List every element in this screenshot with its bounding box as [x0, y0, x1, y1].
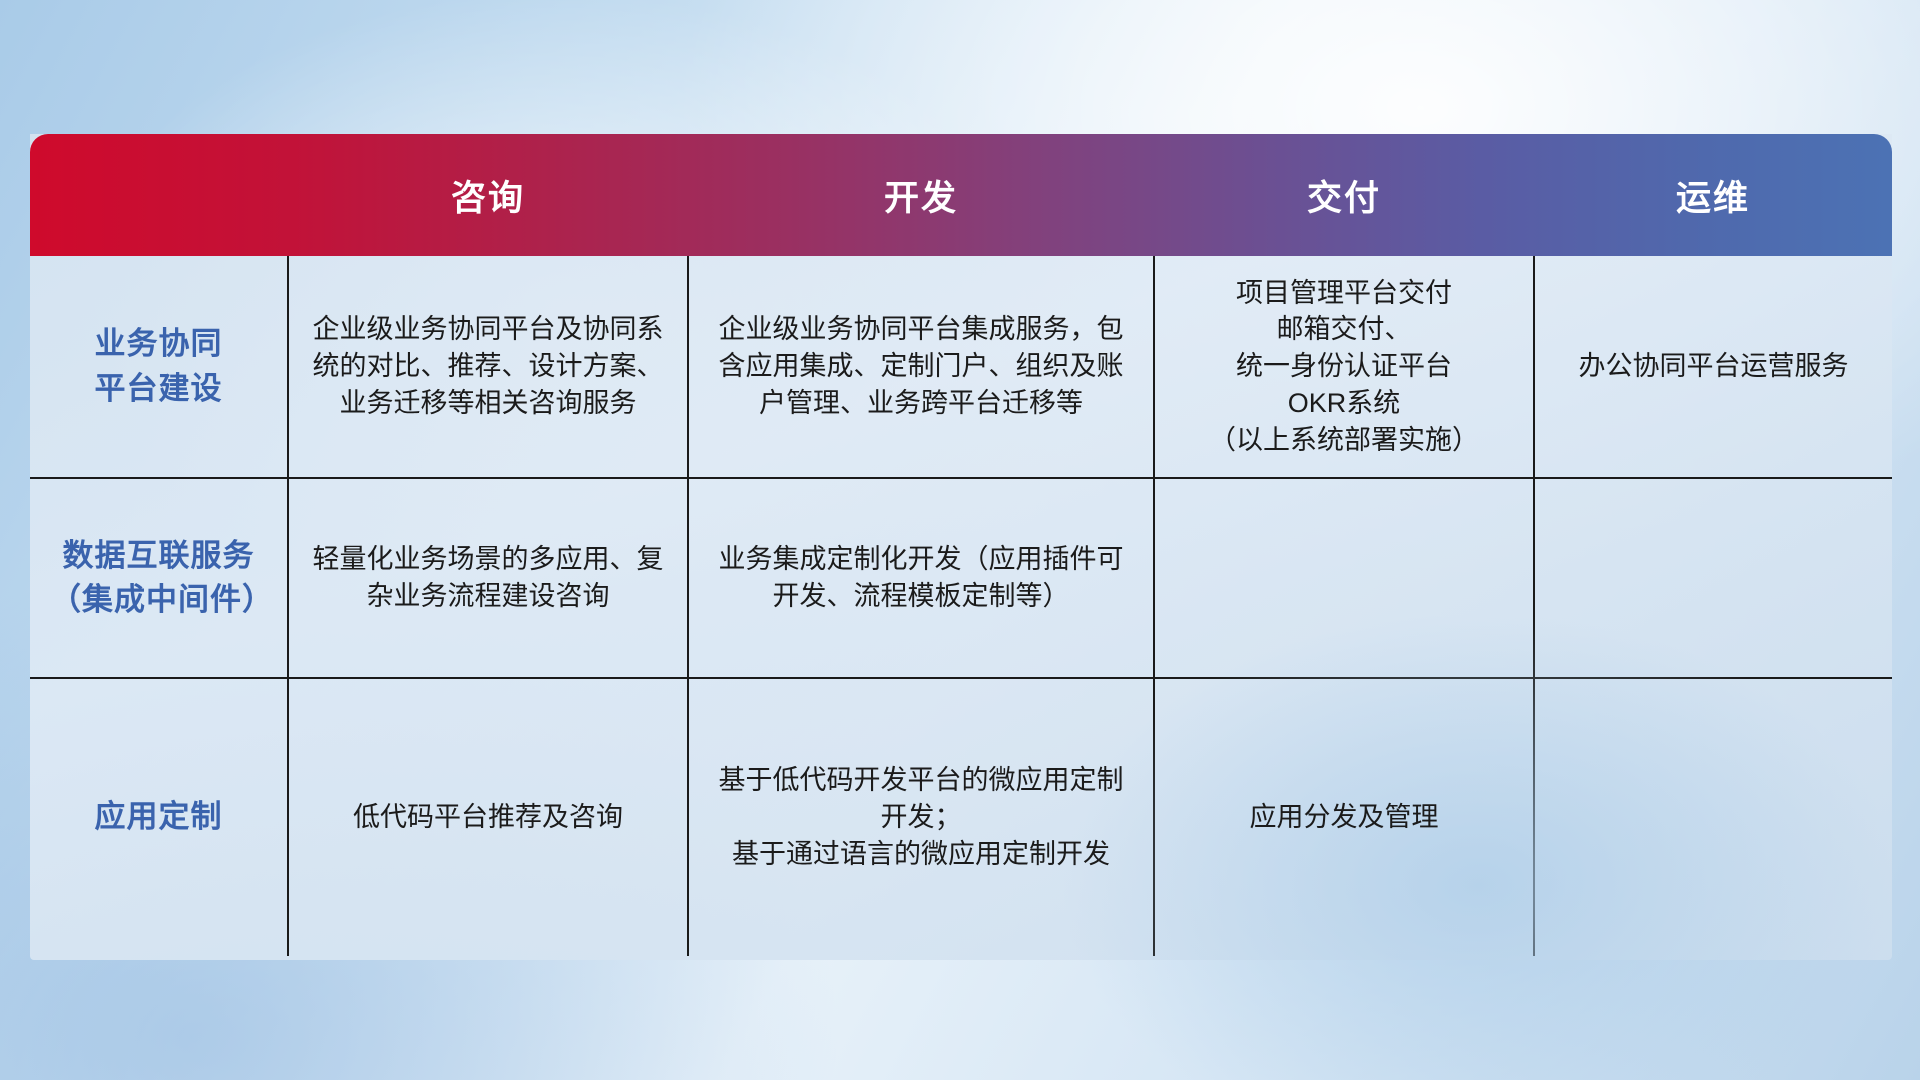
cell-row2-delivery [1154, 478, 1534, 678]
column-header-consulting: 咨询 [288, 134, 688, 256]
column-header-operations-label: 运维 [1676, 179, 1750, 218]
service-category-matrix-table: 服务类别 咨询 开发 交付 运维 [30, 134, 1892, 956]
cell-line: 应用分发及管理 [1175, 799, 1513, 836]
cell-line: 轻量化业务场景的多应用、复杂业务流程建设咨询 [309, 541, 667, 614]
cell-row3-delivery: 应用分发及管理 [1154, 678, 1534, 956]
column-header-consulting-label: 咨询 [451, 179, 525, 218]
cell-row2-consulting: 轻量化业务场景的多应用、复杂业务流程建设咨询 [288, 478, 688, 678]
cell-line: 企业级业务协同平台及协同系统的对比、推荐、设计方案、业务迁移等相关咨询服务 [309, 311, 667, 421]
header-row: 服务类别 咨询 开发 交付 运维 [30, 134, 1892, 256]
cell-line: （以上系统部署实施） [1175, 422, 1513, 459]
cell-row1-delivery: 项目管理平台交付邮箱交付、统一身份认证平台OKR系统（以上系统部署实施） [1154, 256, 1534, 478]
column-header-delivery-label: 交付 [1307, 179, 1381, 218]
cell-row2-operations [1534, 478, 1892, 678]
cell-line: 数据互联服务 [50, 534, 267, 578]
column-header-development-label: 开发 [884, 179, 958, 218]
row-label-business-collaboration: 业务协同平台建设 [30, 256, 288, 478]
cell-row3-development: 基于低代码开发平台的微应用定制开发；基于通过语言的微应用定制开发 [688, 678, 1154, 956]
table-row: 数据互联服务（集成中间件） 轻量化业务场景的多应用、复杂业务流程建设咨询 业务集… [30, 478, 1892, 678]
column-header-category: 服务类别 [30, 134, 288, 256]
cell-line: 低代码平台推荐及咨询 [309, 799, 667, 836]
cell-row1-development: 企业级业务协同平台集成服务，包含应用集成、定制门户、组织及账户管理、业务跨平台迁… [688, 256, 1154, 478]
cell-line: 基于通过语言的微应用定制开发 [709, 836, 1133, 873]
cell-row3-consulting: 低代码平台推荐及咨询 [288, 678, 688, 956]
column-header-operations: 运维 [1534, 134, 1892, 256]
row-label-app-customization: 应用定制 [30, 678, 288, 956]
cell-line: 应用定制 [50, 795, 267, 839]
cell-line: 业务集成定制化开发（应用插件可开发、流程模板定制等） [709, 541, 1133, 614]
cell-line: （集成中间件） [50, 578, 267, 622]
table-row: 应用定制 低代码平台推荐及咨询 基于低代码开发平台的微应用定制开发；基于通过语言… [30, 678, 1892, 956]
cell-row1-operations: 办公协同平台运营服务 [1534, 256, 1892, 478]
cell-row2-development: 业务集成定制化开发（应用插件可开发、流程模板定制等） [688, 478, 1154, 678]
row-label-data-interconnect: 数据互联服务（集成中间件） [30, 478, 288, 678]
cell-line: 邮箱交付、 [1175, 311, 1513, 348]
table-header: 服务类别 咨询 开发 交付 运维 [30, 134, 1892, 256]
column-header-delivery: 交付 [1154, 134, 1534, 256]
cell-line: 项目管理平台交付 [1175, 275, 1513, 312]
cell-line: 企业级业务协同平台集成服务，包含应用集成、定制门户、组织及账户管理、业务跨平台迁… [709, 311, 1133, 421]
service-matrix-panel: 服务类别 咨询 开发 交付 运维 [30, 134, 1892, 960]
cell-line: 统一身份认证平台 [1175, 348, 1513, 385]
table-row: 业务协同平台建设 企业级业务协同平台及协同系统的对比、推荐、设计方案、业务迁移等… [30, 256, 1892, 478]
cell-line: 平台建设 [50, 367, 267, 411]
cell-line: 办公协同平台运营服务 [1555, 348, 1872, 385]
cell-line: 基于低代码开发平台的微应用定制开发； [709, 762, 1133, 835]
column-header-development: 开发 [688, 134, 1154, 256]
cell-line: 业务协同 [50, 322, 267, 366]
table-body: 业务协同平台建设 企业级业务协同平台及协同系统的对比、推荐、设计方案、业务迁移等… [30, 256, 1892, 956]
cell-row3-operations [1534, 678, 1892, 956]
slide-canvas: 服务类别 咨询 开发 交付 运维 [0, 0, 1920, 1080]
cell-line: OKR系统 [1175, 385, 1513, 422]
cell-row1-consulting: 企业级业务协同平台及协同系统的对比、推荐、设计方案、业务迁移等相关咨询服务 [288, 256, 688, 478]
